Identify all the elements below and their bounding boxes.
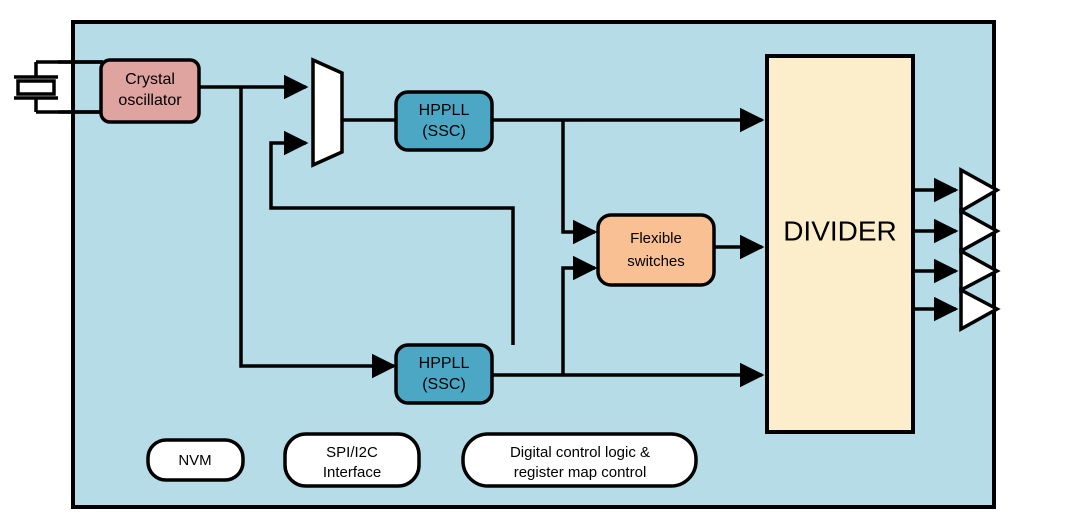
hppll-bottom-block[interactable]: HPPLL (SSC) bbox=[396, 345, 492, 403]
block-diagram-svg: Crystal oscillator HPPLL (SSC) bbox=[0, 0, 1067, 530]
nvm-block[interactable]: NVM bbox=[148, 440, 243, 480]
digital-control-label-line1: Digital control logic & bbox=[510, 444, 650, 461]
hppll-top-label-line2: (SSC) bbox=[422, 123, 466, 140]
hppll-bottom-label-line2: (SSC) bbox=[422, 376, 466, 393]
hppll-top-block[interactable]: HPPLL (SSC) bbox=[396, 92, 492, 150]
digital-control-logic-block[interactable]: Digital control logic & register map con… bbox=[463, 434, 696, 486]
multiplexer-icon[interactable] bbox=[313, 60, 342, 165]
flexible-switches-block[interactable]: Flexible switches bbox=[598, 215, 714, 285]
crystal-oscillator-block[interactable]: Crystal oscillator bbox=[101, 60, 199, 122]
block-diagram-root: Crystal oscillator HPPLL (SSC) bbox=[0, 0, 1067, 530]
crystal-oscillator-label-line2: oscillator bbox=[118, 92, 182, 109]
hppll-bottom-label-line1: HPPLL bbox=[419, 355, 470, 372]
spi-i2c-label-line2: Interface bbox=[323, 464, 381, 481]
divider-block[interactable]: DIVIDER bbox=[767, 56, 913, 432]
spi-i2c-label-line1: SPI/I2C bbox=[326, 444, 378, 461]
digital-control-label-line2: register map control bbox=[514, 464, 647, 481]
nvm-label: NVM bbox=[178, 452, 211, 469]
flexible-switches-label-line1: Flexible bbox=[630, 230, 682, 247]
crystal-oscillator-label-line1: Crystal bbox=[125, 71, 175, 88]
spi-i2c-interface-block[interactable]: SPI/I2C Interface bbox=[285, 434, 419, 486]
flexible-switches-label-line2: switches bbox=[627, 253, 685, 270]
hppll-top-label-line1: HPPLL bbox=[419, 102, 470, 119]
divider-label: DIVIDER bbox=[783, 215, 897, 246]
